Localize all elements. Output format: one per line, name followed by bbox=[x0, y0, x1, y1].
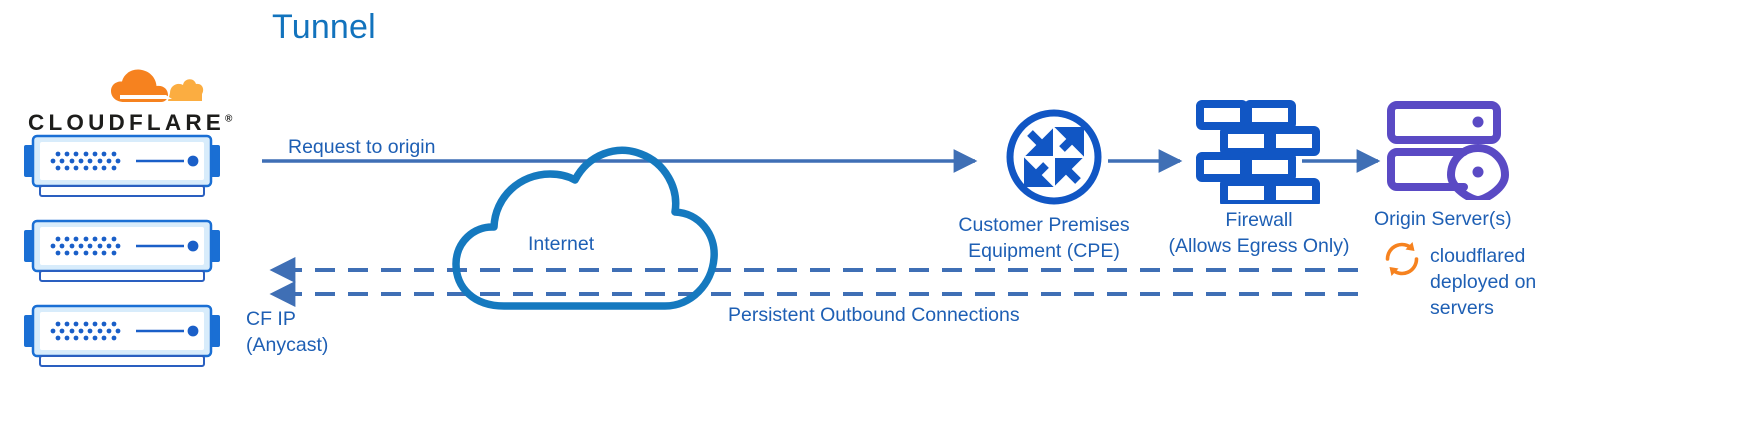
request-to-origin-label: Request to origin bbox=[288, 135, 435, 160]
origin-server-label: Origin Server(s) bbox=[1374, 207, 1534, 232]
brick-wall-icon bbox=[1196, 100, 1322, 204]
cf-ip-anycast-label: CF IP (Anycast) bbox=[246, 306, 396, 358]
internet-label: Internet bbox=[528, 232, 594, 257]
router-converge-arrows-icon bbox=[1004, 107, 1104, 207]
persistent-outbound-connections-label: Persistent Outbound Connections bbox=[728, 303, 1020, 328]
server-stack-location-pin-icon bbox=[1386, 100, 1512, 200]
sync-arrows-icon bbox=[1381, 238, 1423, 280]
cloud-icon bbox=[446, 140, 726, 312]
tunnel-architecture-diagram: Tunnel CLOUDFLARE® bbox=[0, 0, 1754, 422]
firewall-label: Firewall (Allows Egress Only) bbox=[1158, 207, 1360, 259]
customer-premises-equipment-label: Customer Premises Equipment (CPE) bbox=[944, 212, 1144, 264]
cloudflared-deployed-label: cloudflared deployed on servers bbox=[1430, 243, 1560, 321]
